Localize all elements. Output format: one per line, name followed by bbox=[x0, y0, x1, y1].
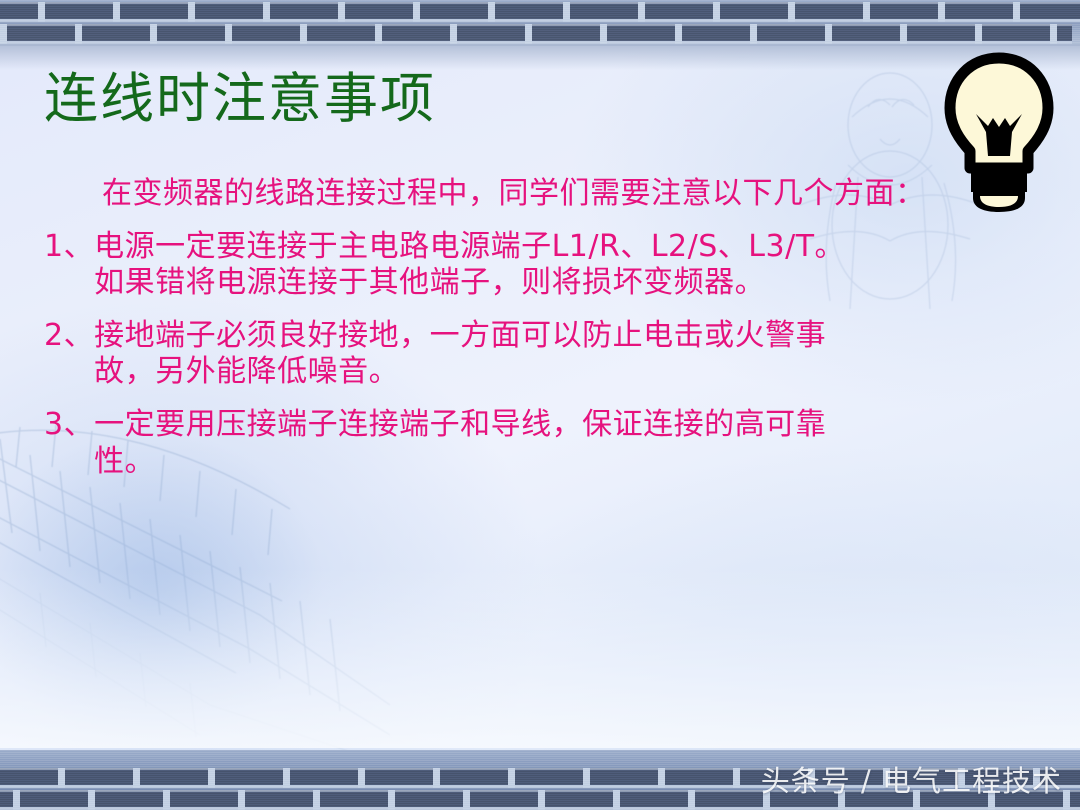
slide-canvas: 连线时注意事项 在变频器的线路连接过程中，同学们需要注意以下几个方面： 1、 电… bbox=[0, 0, 1080, 810]
list-item-text: 接地端子必须良好接地，一方面可以防止电击或火警事 故，另外能降低噪音。 bbox=[94, 318, 1054, 391]
list-item-text: 一定要用压接端子连接端子和导线，保证连接的高可靠 性。 bbox=[94, 407, 1054, 480]
list-item-line-2: 如果错将电源连接于其他端子，则将损坏变频器。 bbox=[94, 265, 1054, 302]
list-item-line-1: 电源一定要连接于主电路电源端子L1/R、L2/S、L3/T。 bbox=[94, 229, 845, 264]
page-title: 连线时注意事项 bbox=[44, 72, 436, 126]
intro-paragraph: 在变频器的线路连接过程中，同学们需要注意以下几个方面： bbox=[0, 176, 1080, 213]
list-item-number: 1、 bbox=[44, 229, 94, 302]
footer-watermark: 头条号 / 电气工程技术 bbox=[761, 758, 1062, 800]
body-content: 在变频器的线路连接过程中，同学们需要注意以下几个方面： 1、 电源一定要连接于主… bbox=[0, 176, 1080, 482]
list-item-line-2: 故，另外能降低噪音。 bbox=[94, 354, 1054, 391]
list-item-number: 2、 bbox=[44, 318, 94, 391]
brick-border-top bbox=[0, 0, 1080, 46]
list-item: 1、 电源一定要连接于主电路电源端子L1/R、L2/S、L3/T。 如果错将电源… bbox=[0, 229, 1080, 302]
list-item-number: 3、 bbox=[44, 407, 94, 480]
list-item-line-1: 接地端子必须良好接地，一方面可以防止电击或火警事 bbox=[94, 318, 826, 353]
list-item-line-1: 一定要用压接端子连接端子和导线，保证连接的高可靠 bbox=[94, 407, 826, 442]
list-item: 2、 接地端子必须良好接地，一方面可以防止电击或火警事 故，另外能降低噪音。 bbox=[0, 318, 1080, 391]
list-item-text: 电源一定要连接于主电路电源端子L1/R、L2/S、L3/T。 如果错将电源连接于… bbox=[94, 229, 1054, 302]
list-item-line-2: 性。 bbox=[94, 444, 1054, 481]
list-item: 3、 一定要用压接端子连接端子和导线，保证连接的高可靠 性。 bbox=[0, 407, 1080, 480]
